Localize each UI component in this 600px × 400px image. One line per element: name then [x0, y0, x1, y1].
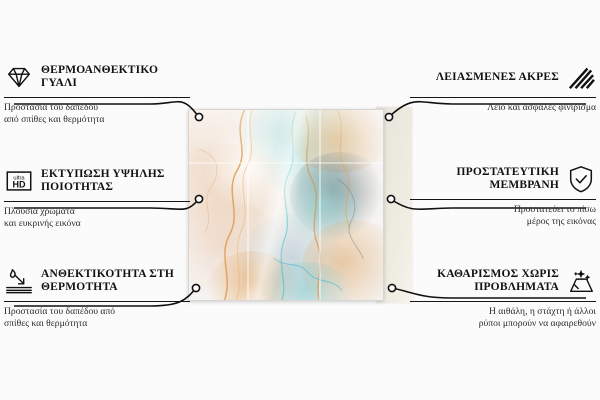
diamond-icon [4, 62, 34, 92]
feature-high-quality-print[interactable]: ultra HD ΕΚΤΥΠΩΣΗ ΥΨΗΛΗΣ ΠΟΙΟΤΗΤΑΣ Πλούσ… [4, 166, 190, 230]
feature-title: ΕΚΤΥΠΩΣΗ ΥΨΗΛΗΣ ΠΟΙΟΤΗΤΑΣ [41, 168, 190, 194]
feature-title: ΛΕΙΑΣΜΕΝΕΣ ΑΚΡΕΣ [436, 71, 559, 84]
divider [410, 301, 596, 302]
feature-description: Προστασία του δαπέδουαπό σπίθες και θερμ… [4, 102, 190, 126]
feature-title: ΘΕΡΜΟΑΝΘΕΚΤΙΚΟ ΓΥΑΛΙ [41, 64, 190, 90]
shield-check-icon [566, 164, 596, 194]
heat-resistance-icon [4, 266, 34, 296]
feature-title: ΚΑΘΑΡΙΣΜΟΣ ΧΩΡΙΣ ΠΡΟΒΛΗΜΑΤΑ [410, 268, 559, 294]
divider [4, 201, 190, 202]
feature-polished-edges[interactable]: ΛΕΙΑΣΜΕΝΕΣ ΑΚΡΕΣ Λείο και ασφαλές φινίρι… [410, 62, 596, 114]
divider [410, 97, 596, 98]
divider [410, 199, 596, 200]
svg-text:HD: HD [13, 180, 26, 190]
feature-description: Λείο και ασφαλές φινίρισμα [410, 102, 596, 114]
divider [4, 301, 190, 302]
feature-heat-durability[interactable]: ΑΝΘΕΚΤΙΚΟΤΗΤΑ ΣΤΗ ΘΕΡΜΟΤΗΤΑ Προστασία το… [4, 266, 190, 330]
feature-header: ΘΕΡΜΟΑΝΘΕΚΤΙΚΟ ΓΥΑΛΙ [4, 62, 190, 92]
feature-header: ΛΕΙΑΣΜΕΝΕΣ ΑΚΡΕΣ [410, 62, 596, 92]
feature-easy-cleaning[interactable]: ΚΑΘΑΡΙΣΜΟΣ ΧΩΡΙΣ ΠΡΟΒΛΗΜΑΤΑ Η αιθάλη, η … [410, 266, 596, 330]
ultra-hd-icon: ultra HD [4, 166, 34, 196]
feature-header: ultra HD ΕΚΤΥΠΩΣΗ ΥΨΗΛΗΣ ΠΟΙΟΤΗΤΑΣ [4, 166, 190, 196]
feature-protective-membrane[interactable]: ΠΡΟΣΤΑΤΕΥΤΙΚΗ ΜΕΜΒΡΑΝΗ Προστατεύει το πί… [410, 164, 596, 228]
feature-title: ΑΝΘΕΚΤΙΚΟΤΗΤΑ ΣΤΗ ΘΕΡΜΟΤΗΤΑ [41, 268, 190, 294]
feature-description: Πλούσια χρώματακαι ευκρινής εικόνα [4, 206, 190, 230]
feature-header: ΠΡΟΣΤΑΤΕΥΤΙΚΗ ΜΕΜΒΡΑΝΗ [410, 164, 596, 194]
feature-description: Η αιθάλη, η στάχτη ή άλλοιρύποι μπορούν … [410, 306, 596, 330]
infographic-canvas: ΘΕΡΜΟΑΝΘΕΚΤΙΚΟ ΓΥΑΛΙ Προστασία του δαπέδ… [0, 0, 600, 400]
feature-description: Προστατεύει το πίσωμέρος της εικόνας [410, 204, 596, 228]
polished-edges-icon [566, 62, 596, 92]
divider [4, 97, 190, 98]
feature-header: ΑΝΘΕΚΤΙΚΟΤΗΤΑ ΣΤΗ ΘΕΡΜΟΤΗΤΑ [4, 266, 190, 296]
feature-heat-resistant-glass[interactable]: ΘΕΡΜΟΑΝΘΕΚΤΙΚΟ ΓΥΑΛΙ Προστασία του δαπέδ… [4, 62, 190, 126]
feature-header: ΚΑΘΑΡΙΣΜΟΣ ΧΩΡΙΣ ΠΡΟΒΛΗΜΑΤΑ [410, 266, 596, 296]
sparkle-clean-icon [566, 266, 596, 296]
feature-description: Προστασία του δαπέδου απόσπίθες και θερμ… [4, 306, 190, 330]
feature-title: ΠΡΟΣΤΑΤΕΥΤΙΚΗ ΜΕΜΒΡΑΝΗ [410, 166, 559, 192]
